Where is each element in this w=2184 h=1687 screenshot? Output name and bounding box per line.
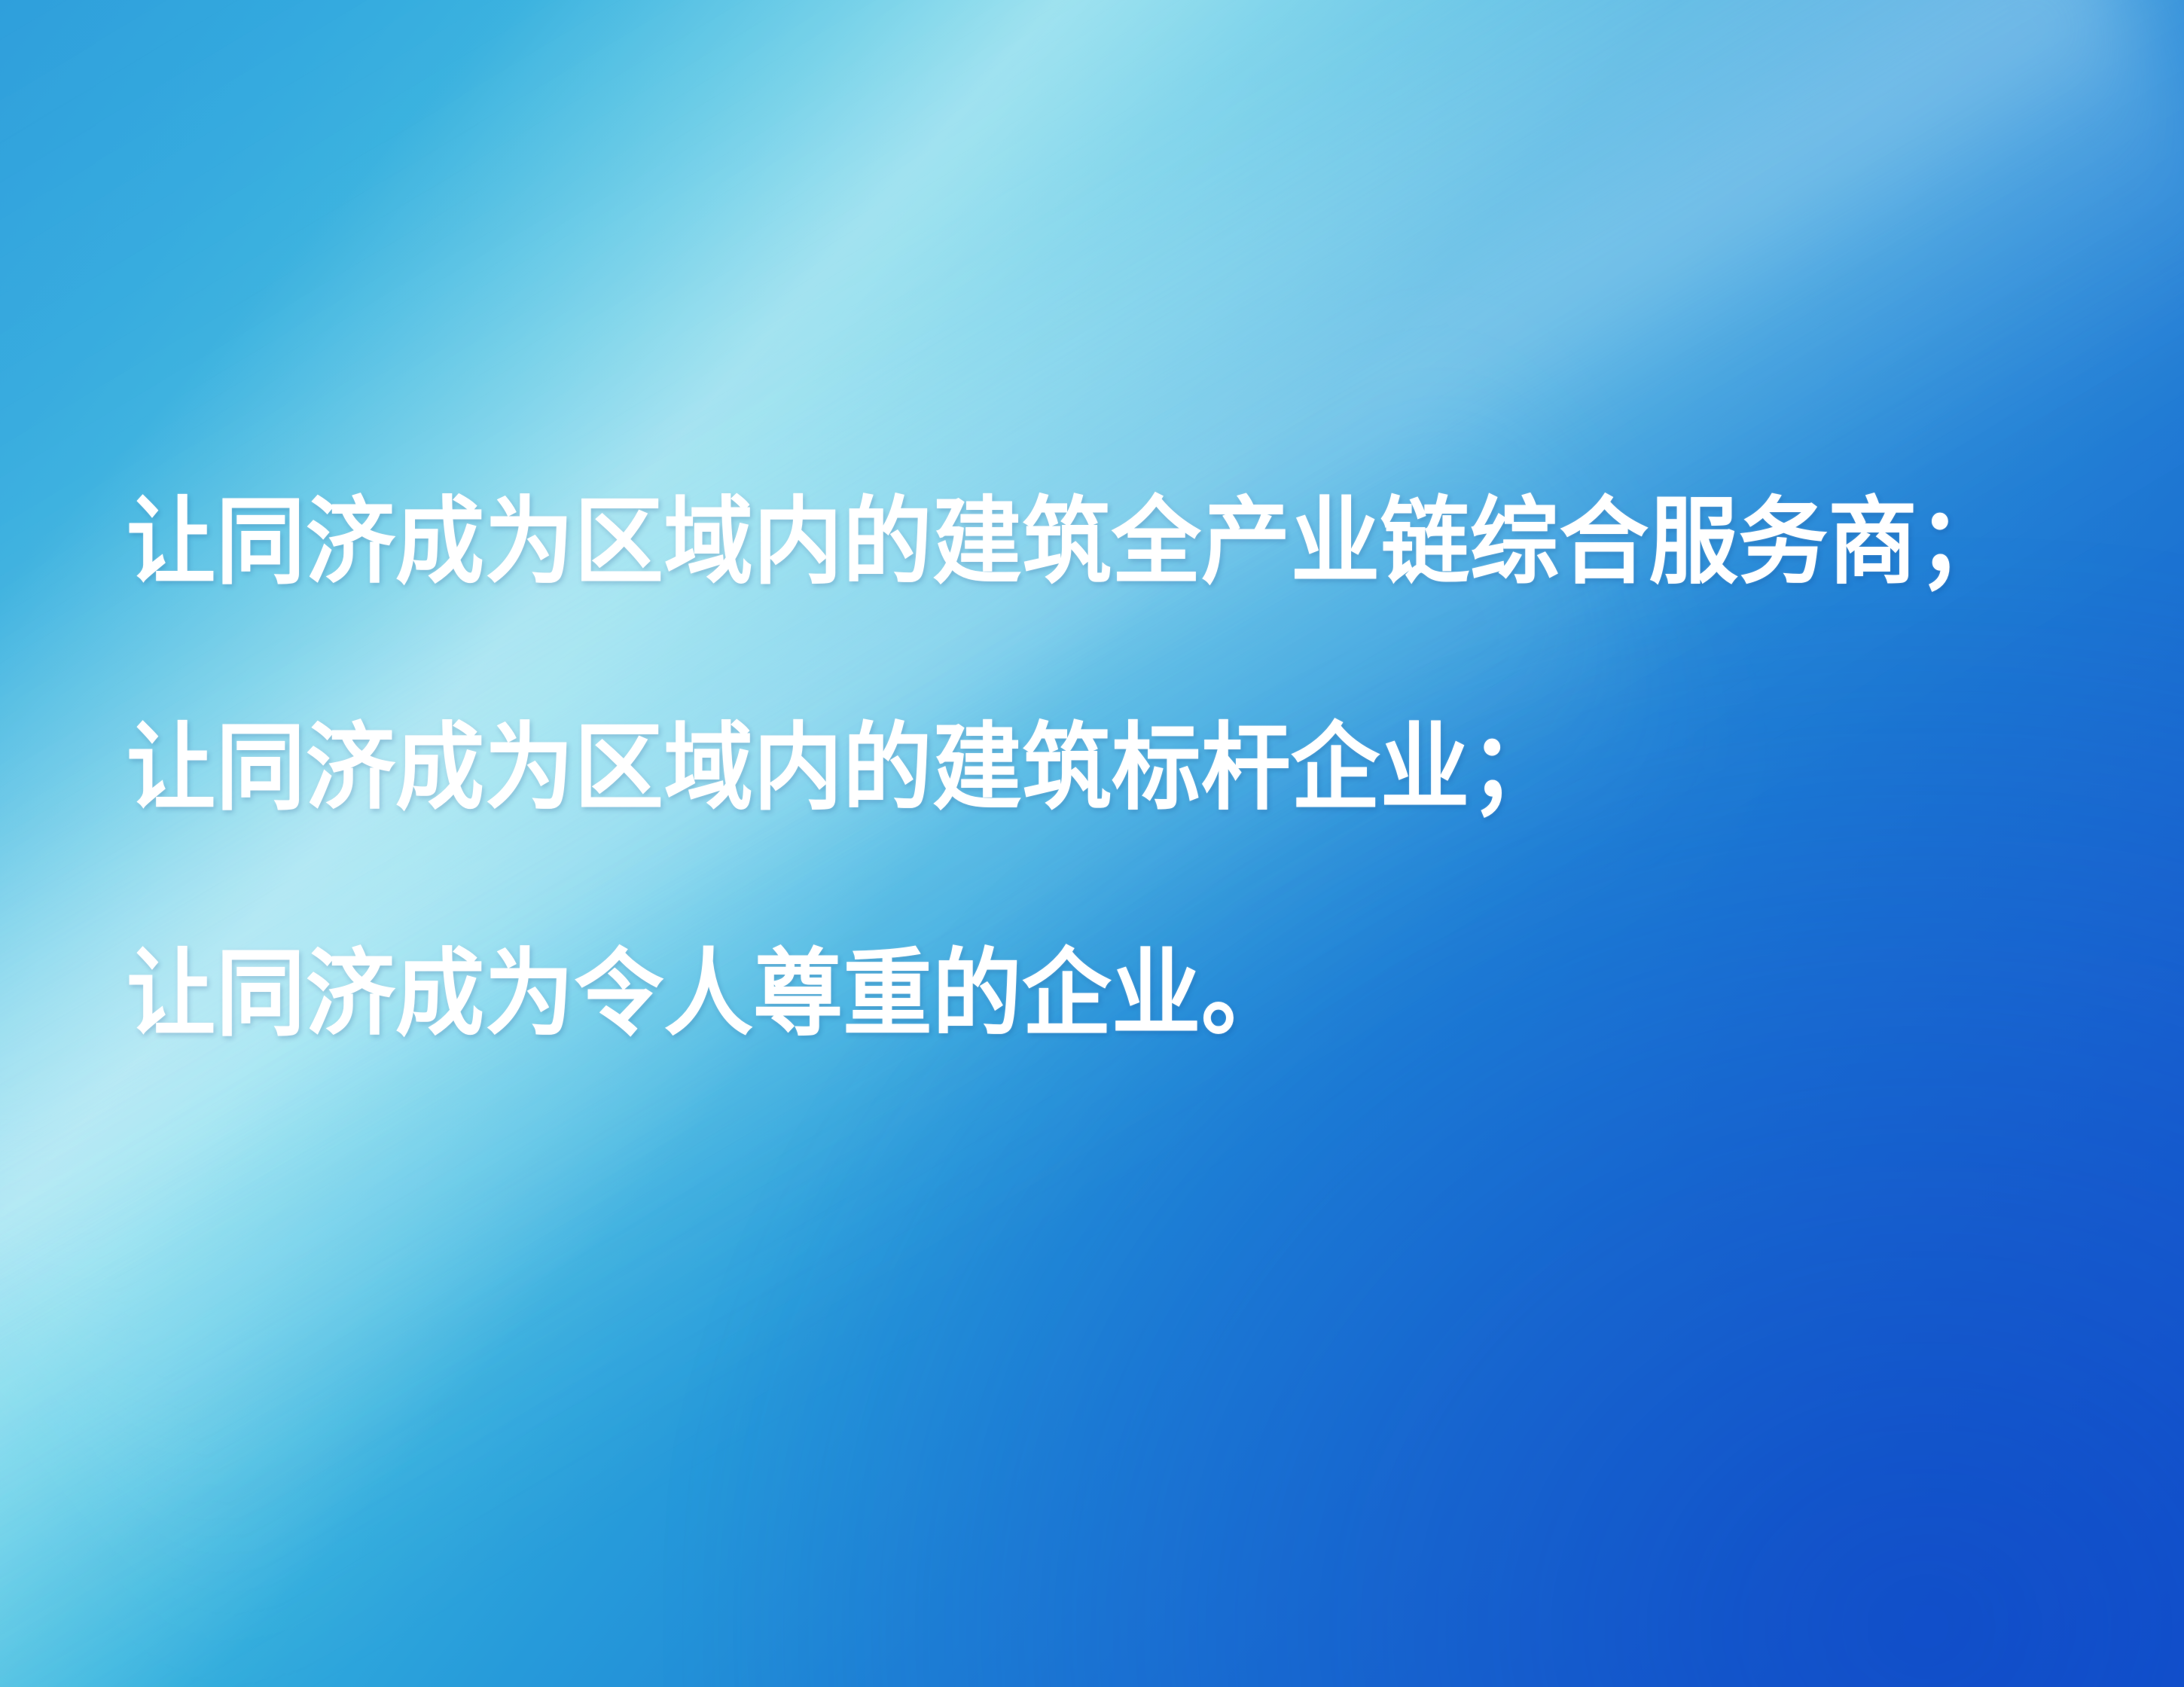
slogan-line-3: 让同济成为令人尊重的企业。 [127, 883, 1967, 1109]
light-sweep-lower [0, 315, 1730, 1687]
light-sweep-upper [0, 0, 2184, 1680]
slide-canvas: 让同济成为区域内的建筑全产业链综合服务商； 让同济成为区域内的建筑标杆企业； 让… [0, 0, 2184, 1687]
slogan-line-1: 让同济成为区域内的建筑全产业链综合服务商； [127, 431, 1967, 657]
light-sweep-bright-band [0, 0, 2184, 1687]
corner-shade-bottom-right [699, 574, 2184, 1687]
slogan-line-2: 让同济成为区域内的建筑标杆企业； [127, 657, 1967, 883]
slogan-text-block: 让同济成为区域内的建筑全产业链综合服务商； 让同济成为区域内的建筑标杆企业； 让… [127, 431, 2085, 1109]
